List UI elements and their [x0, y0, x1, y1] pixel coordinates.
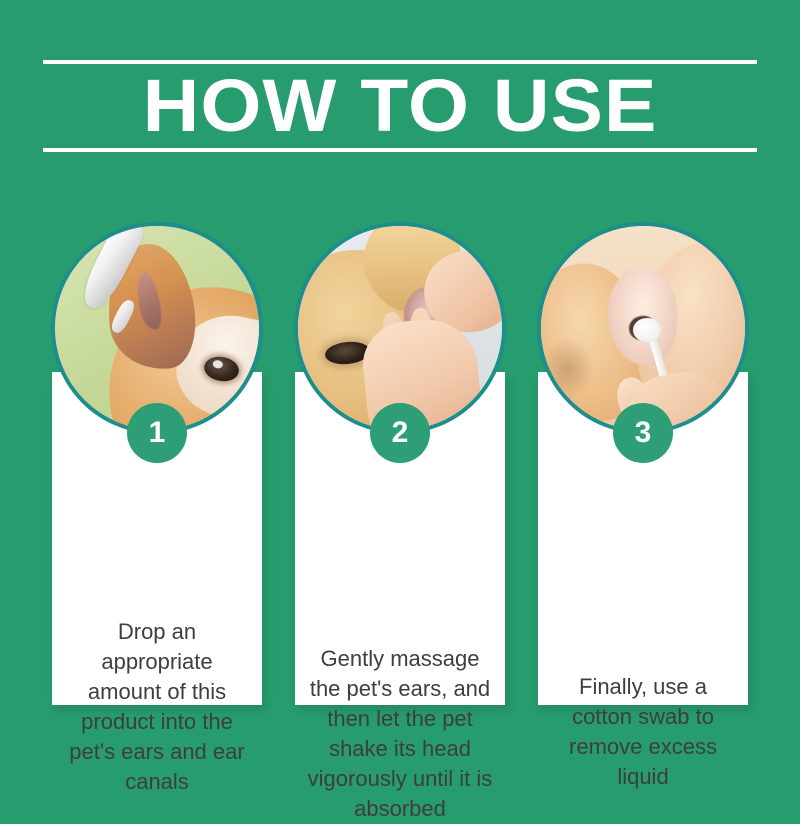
step-caption-1: Drop an appropriate amount of this produ…	[62, 617, 252, 797]
step-badge-1: 1	[127, 403, 187, 463]
cotton-swab-cleaning-ear-photo	[541, 226, 745, 430]
photo1-ear-inner	[133, 271, 164, 332]
title-rule-bottom	[43, 148, 757, 152]
hands-massaging-dog-ear-photo	[298, 226, 502, 430]
step-badge-2: 2	[370, 403, 430, 463]
corgi-ear-dropper-photo	[55, 226, 259, 430]
steps-container: Drop an appropriate amount of this produ…	[0, 222, 800, 722]
step-caption-2: Gently massage the pet's ears, and then …	[305, 644, 495, 824]
page-header: HOW TO USE	[43, 55, 757, 160]
step-badge-3: 3	[613, 403, 673, 463]
step-caption-3: Finally, use a cotton swab to remove exc…	[548, 672, 738, 792]
page-title: HOW TO USE	[22, 69, 779, 143]
photo3-shadow	[541, 338, 594, 399]
